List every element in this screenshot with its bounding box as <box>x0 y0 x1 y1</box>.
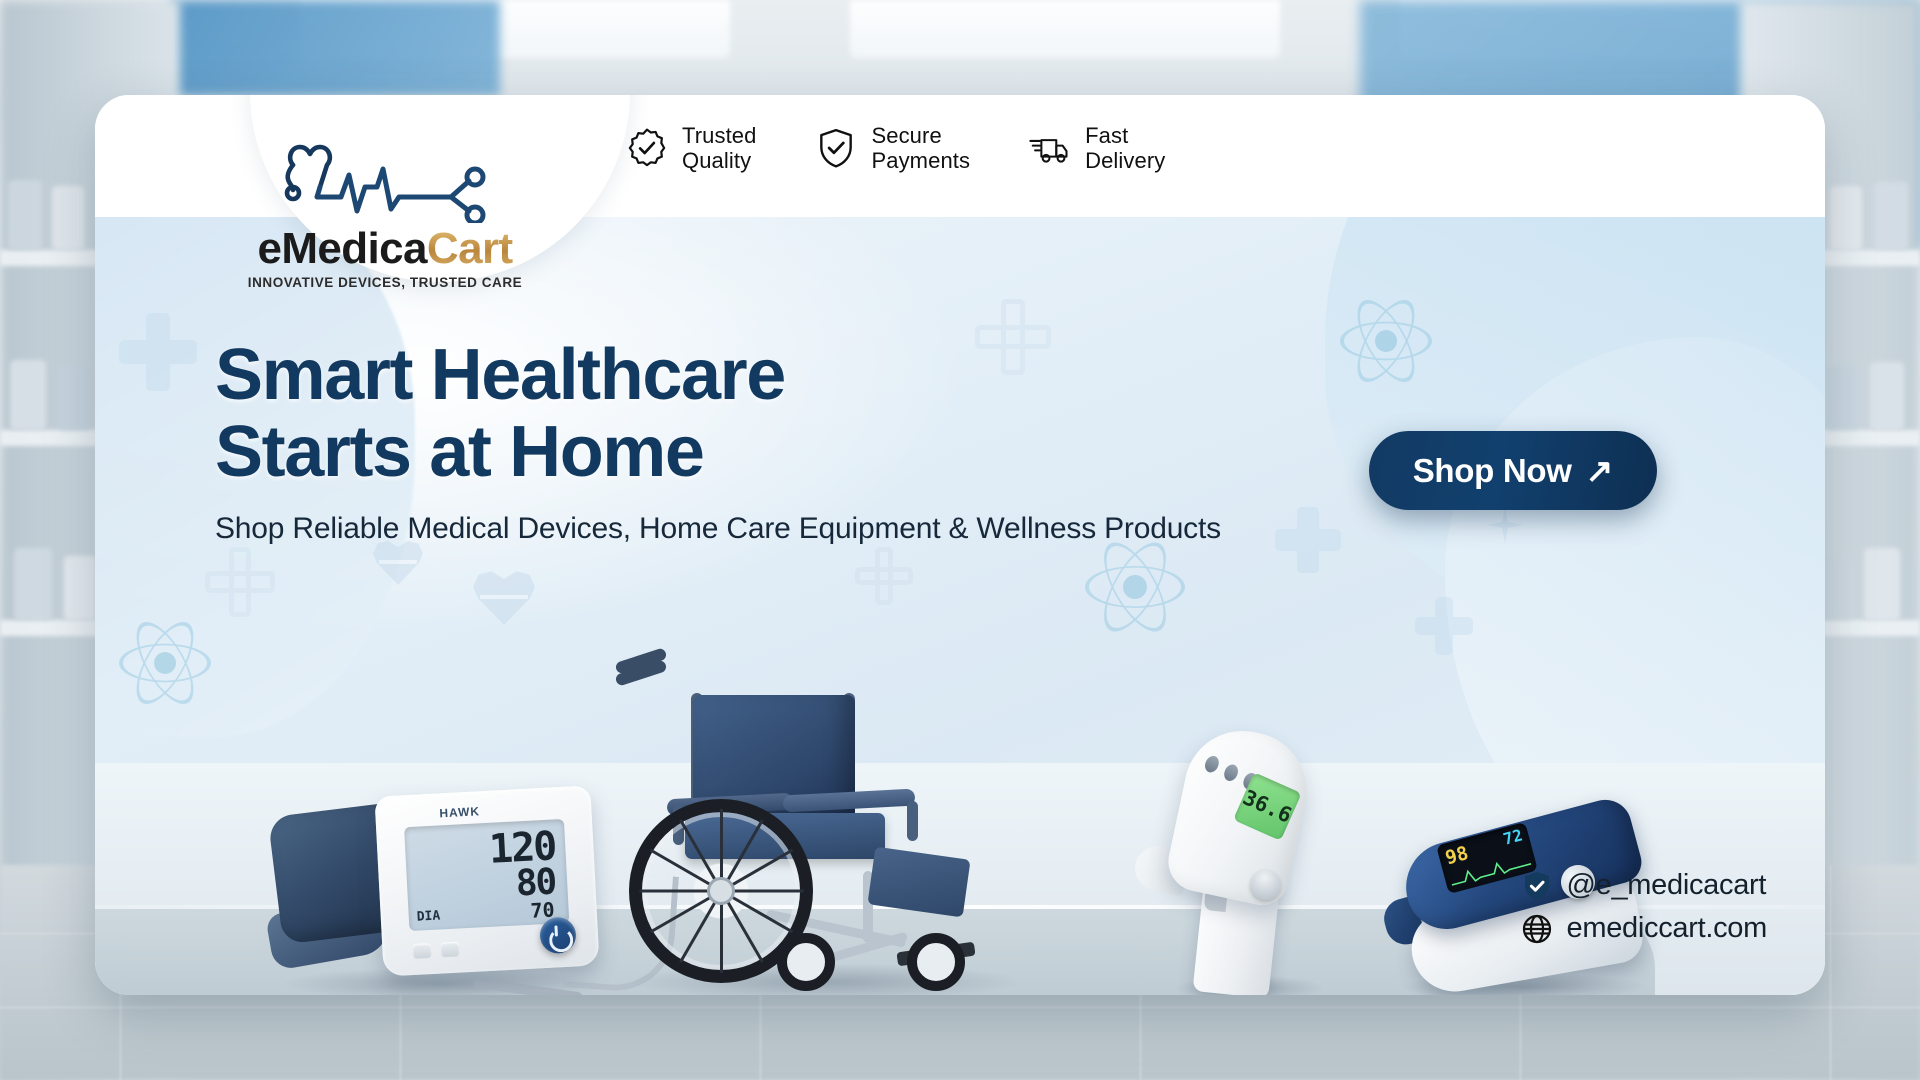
thermometer-dial[interactable] <box>1246 865 1286 905</box>
ceiling-light <box>850 0 1280 58</box>
hero-section: Smart Healthcare Starts at Home Shop Rel… <box>95 217 1825 995</box>
stethoscope-heartbeat-icon <box>255 131 515 223</box>
product-bottle <box>1874 182 1908 250</box>
trust-badge-trusted-quality: Trusted Quality <box>625 123 756 173</box>
shop-now-label: Shop Now <box>1413 452 1572 490</box>
wheel-hub <box>707 877 735 905</box>
delivery-truck-icon <box>1028 126 1072 170</box>
product-bottle <box>1826 366 1858 430</box>
trust-badge-secure-payments: Secure Payments <box>814 123 970 173</box>
bp-power-button[interactable] <box>539 916 577 954</box>
floor-line <box>0 1007 1920 1008</box>
contact-block: @e_medicacart emediccart.com <box>1521 869 1767 945</box>
atom-icon <box>1340 295 1432 387</box>
website-row[interactable]: emediccart.com <box>1521 912 1767 945</box>
banner-card: Trusted Quality Secure Payments Fast Del… <box>95 95 1825 995</box>
product-bottle <box>14 548 52 620</box>
thermometer-head: 36.6 <box>1163 720 1317 910</box>
product-bottle <box>8 180 42 250</box>
product-bottle <box>1870 362 1904 430</box>
brand-logo[interactable]: eMedicaCart INNOVATIVE DEVICES, TRUSTED … <box>190 95 580 290</box>
bp-brand-text: HAWK <box>439 804 480 820</box>
bp-dia-label: DIA <box>416 909 440 925</box>
product-wheelchair[interactable] <box>615 655 1035 995</box>
bp-device-body: HAWK 120 80 70 DIA <box>374 785 599 976</box>
wall-panel-top <box>170 0 500 96</box>
bp-buttons[interactable] <box>412 942 460 959</box>
brand-tagline: INNOVATIVE DEVICES, TRUSTED CARE <box>190 275 580 290</box>
arrow-up-right-icon: ↗ <box>1586 451 1613 490</box>
trust-badge-label: Secure Payments <box>871 123 970 173</box>
trust-badge-row: Trusted Quality Secure Payments Fast Del… <box>625 123 1165 173</box>
trust-badge-label: Trusted Quality <box>682 123 756 173</box>
floor-line <box>1830 865 1831 1080</box>
page-title-line2: Starts at Home <box>215 414 1221 491</box>
wheelchair-caster-wheel <box>907 933 965 991</box>
verified-shield-icon <box>1521 870 1553 902</box>
badge-check-icon <box>625 126 669 170</box>
brand-name-accent: Cart <box>427 224 513 273</box>
product-bottle <box>1864 548 1900 620</box>
trust-badge-label: Fast Delivery <box>1085 123 1165 173</box>
product-bottle <box>1830 186 1862 250</box>
bp-display: 120 80 70 DIA <box>404 819 569 931</box>
wheelchair-arm-post <box>907 801 918 841</box>
product-bottle <box>58 366 90 430</box>
wheelchair-rear-wheel <box>629 799 813 983</box>
hero-subtitle: Shop Reliable Medical Devices, Home Care… <box>215 511 1221 547</box>
shield-check-icon <box>814 126 858 170</box>
product-bottle <box>10 360 46 430</box>
oximeter-spo2-value: 98 <box>1443 844 1470 868</box>
oximeter-bpm-value: 72 <box>1502 827 1525 847</box>
social-handle-row[interactable]: @e_medicacart <box>1521 869 1767 902</box>
product-bottle <box>52 186 84 250</box>
wheelchair-footrest <box>867 847 970 918</box>
hero-copy: Smart Healthcare Starts at Home Shop Rel… <box>215 337 1221 547</box>
product-infrared-thermometer[interactable]: 36.6 <box>1155 705 1345 995</box>
globe-icon <box>1521 913 1553 945</box>
page-title-line1: Smart Healthcare <box>215 337 1221 414</box>
trust-badge-fast-delivery: Fast Delivery <box>1028 123 1165 173</box>
medical-cross-icon <box>119 313 197 391</box>
social-handle-text: @e_medicacart <box>1567 869 1767 902</box>
product-bottle <box>64 556 96 620</box>
website-text: emediccart.com <box>1567 912 1767 945</box>
shop-now-button[interactable]: Shop Now ↗ <box>1369 431 1657 510</box>
product-blood-pressure-monitor[interactable]: HAWK 120 80 70 DIA <box>275 735 605 995</box>
brand-name: eMedicaCart <box>190 225 580 273</box>
brand-name-primary: eMedica <box>257 224 426 273</box>
